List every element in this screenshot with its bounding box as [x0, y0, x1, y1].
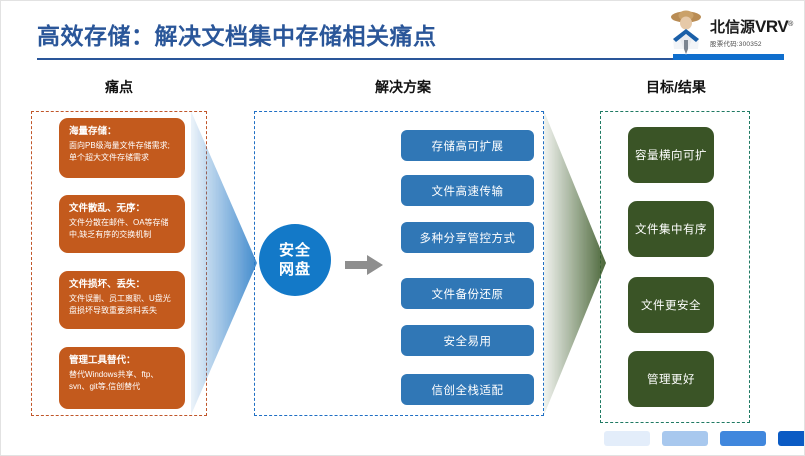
- logo-stock-code: 股票代码:300352: [710, 38, 793, 48]
- logo-brand-en: VRV: [755, 17, 788, 36]
- logo-figure-icon: [666, 9, 706, 55]
- right-arrow-icon: [345, 255, 383, 275]
- decorative-swatch: [604, 431, 650, 446]
- logo-brand-cn: 北信源: [710, 19, 755, 36]
- decorative-swatch: [778, 431, 805, 446]
- pain-point-body: 文件误删、员工离职、U盘光盘损坏导致重要资料丢失: [69, 293, 176, 317]
- goal-card[interactable]: 容量横向可扩: [628, 127, 714, 183]
- goal-card[interactable]: 文件更安全: [628, 277, 714, 333]
- decorative-swatch: [662, 431, 708, 446]
- pain-point-card[interactable]: 文件散乱、无序： 文件分散在邮件、OA等存储中,缺乏有序的交换机制: [59, 195, 185, 253]
- pain-point-body: 替代Windows共享、ftp、svn、git等,信创替代: [69, 369, 176, 393]
- goal-card[interactable]: 管理更好: [628, 351, 714, 407]
- solution-card[interactable]: 安全易用: [401, 325, 534, 356]
- slide-canvas: 高效存储：解决文档集中存储相关痛点 北信源VRV® 股票代码:300352 痛点…: [0, 0, 805, 456]
- column-heading-pain: 痛点: [79, 77, 159, 97]
- pain-point-title: 海量存储：: [69, 125, 176, 138]
- company-logo: 北信源VRV® 股票代码:300352: [658, 7, 786, 55]
- logo-brand: 北信源VRV®: [710, 17, 793, 36]
- decorative-swatch: [720, 431, 766, 446]
- pain-point-card[interactable]: 管理工具替代： 替代Windows共享、ftp、svn、git等,信创替代: [59, 347, 185, 409]
- goal-card[interactable]: 文件集中有序: [628, 201, 714, 257]
- column-heading-solution: 解决方案: [353, 77, 453, 97]
- title-divider-thin: [37, 58, 677, 60]
- column-heading-goal: 目标/结果: [626, 77, 726, 97]
- solution-card[interactable]: 信创全栈适配: [401, 374, 534, 405]
- pain-point-body: 面向PB级海量文件存储需求;单个超大文件存储需求: [69, 140, 176, 164]
- core-product-circle[interactable]: 安全 网盘: [259, 224, 331, 296]
- logo-registered-icon: ®: [788, 21, 793, 28]
- funnel-arrow-blue-icon: [191, 111, 257, 415]
- solution-card[interactable]: 存储高可扩展: [401, 130, 534, 161]
- pain-point-title: 文件损坏、丢失：: [69, 278, 176, 291]
- pain-point-card[interactable]: 文件损坏、丢失： 文件误删、员工离职、U盘光盘损坏导致重要资料丢失: [59, 271, 185, 329]
- solution-card[interactable]: 文件高速传输: [401, 175, 534, 206]
- pain-point-title: 文件散乱、无序：: [69, 202, 176, 215]
- logo-text: 北信源VRV® 股票代码:300352: [710, 17, 793, 48]
- core-product-line1: 安全: [279, 241, 311, 260]
- pain-point-body: 文件分散在邮件、OA等存储中,缺乏有序的交换机制: [69, 217, 176, 241]
- solution-card[interactable]: 多种分享管控方式: [401, 222, 534, 253]
- solution-card[interactable]: 文件备份还原: [401, 278, 534, 309]
- page-title: 高效存储：解决文档集中存储相关痛点: [37, 17, 437, 51]
- core-product-line2: 网盘: [279, 260, 311, 279]
- funnel-arrow-green-icon: [544, 111, 606, 415]
- pain-point-card[interactable]: 海量存储： 面向PB级海量文件存储需求;单个超大文件存储需求: [59, 118, 185, 178]
- pain-point-title: 管理工具替代：: [69, 354, 176, 367]
